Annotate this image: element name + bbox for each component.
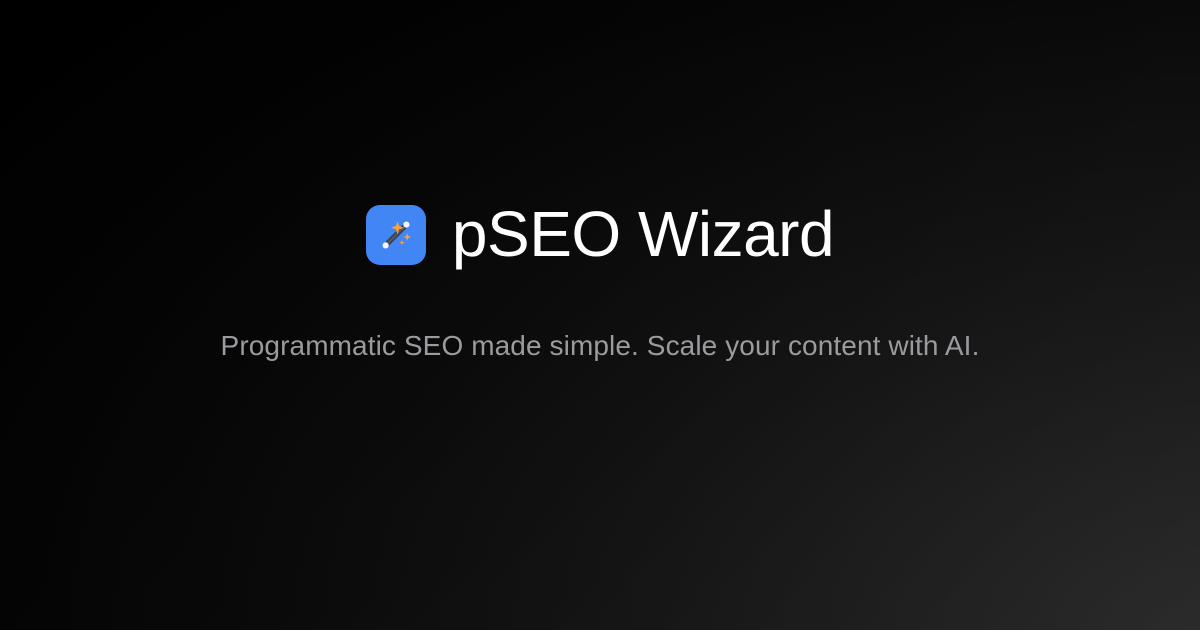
page-title: pSEO Wizard bbox=[452, 200, 834, 269]
og-preview-card: pSEO Wizard Programmatic SEO made simple… bbox=[0, 0, 1200, 630]
brand-lockup: pSEO Wizard bbox=[366, 200, 834, 269]
tagline: Programmatic SEO made simple. Scale your… bbox=[221, 325, 980, 366]
magic-wand-icon bbox=[366, 205, 426, 265]
hero-content: pSEO Wizard Programmatic SEO made simple… bbox=[0, 0, 1200, 630]
